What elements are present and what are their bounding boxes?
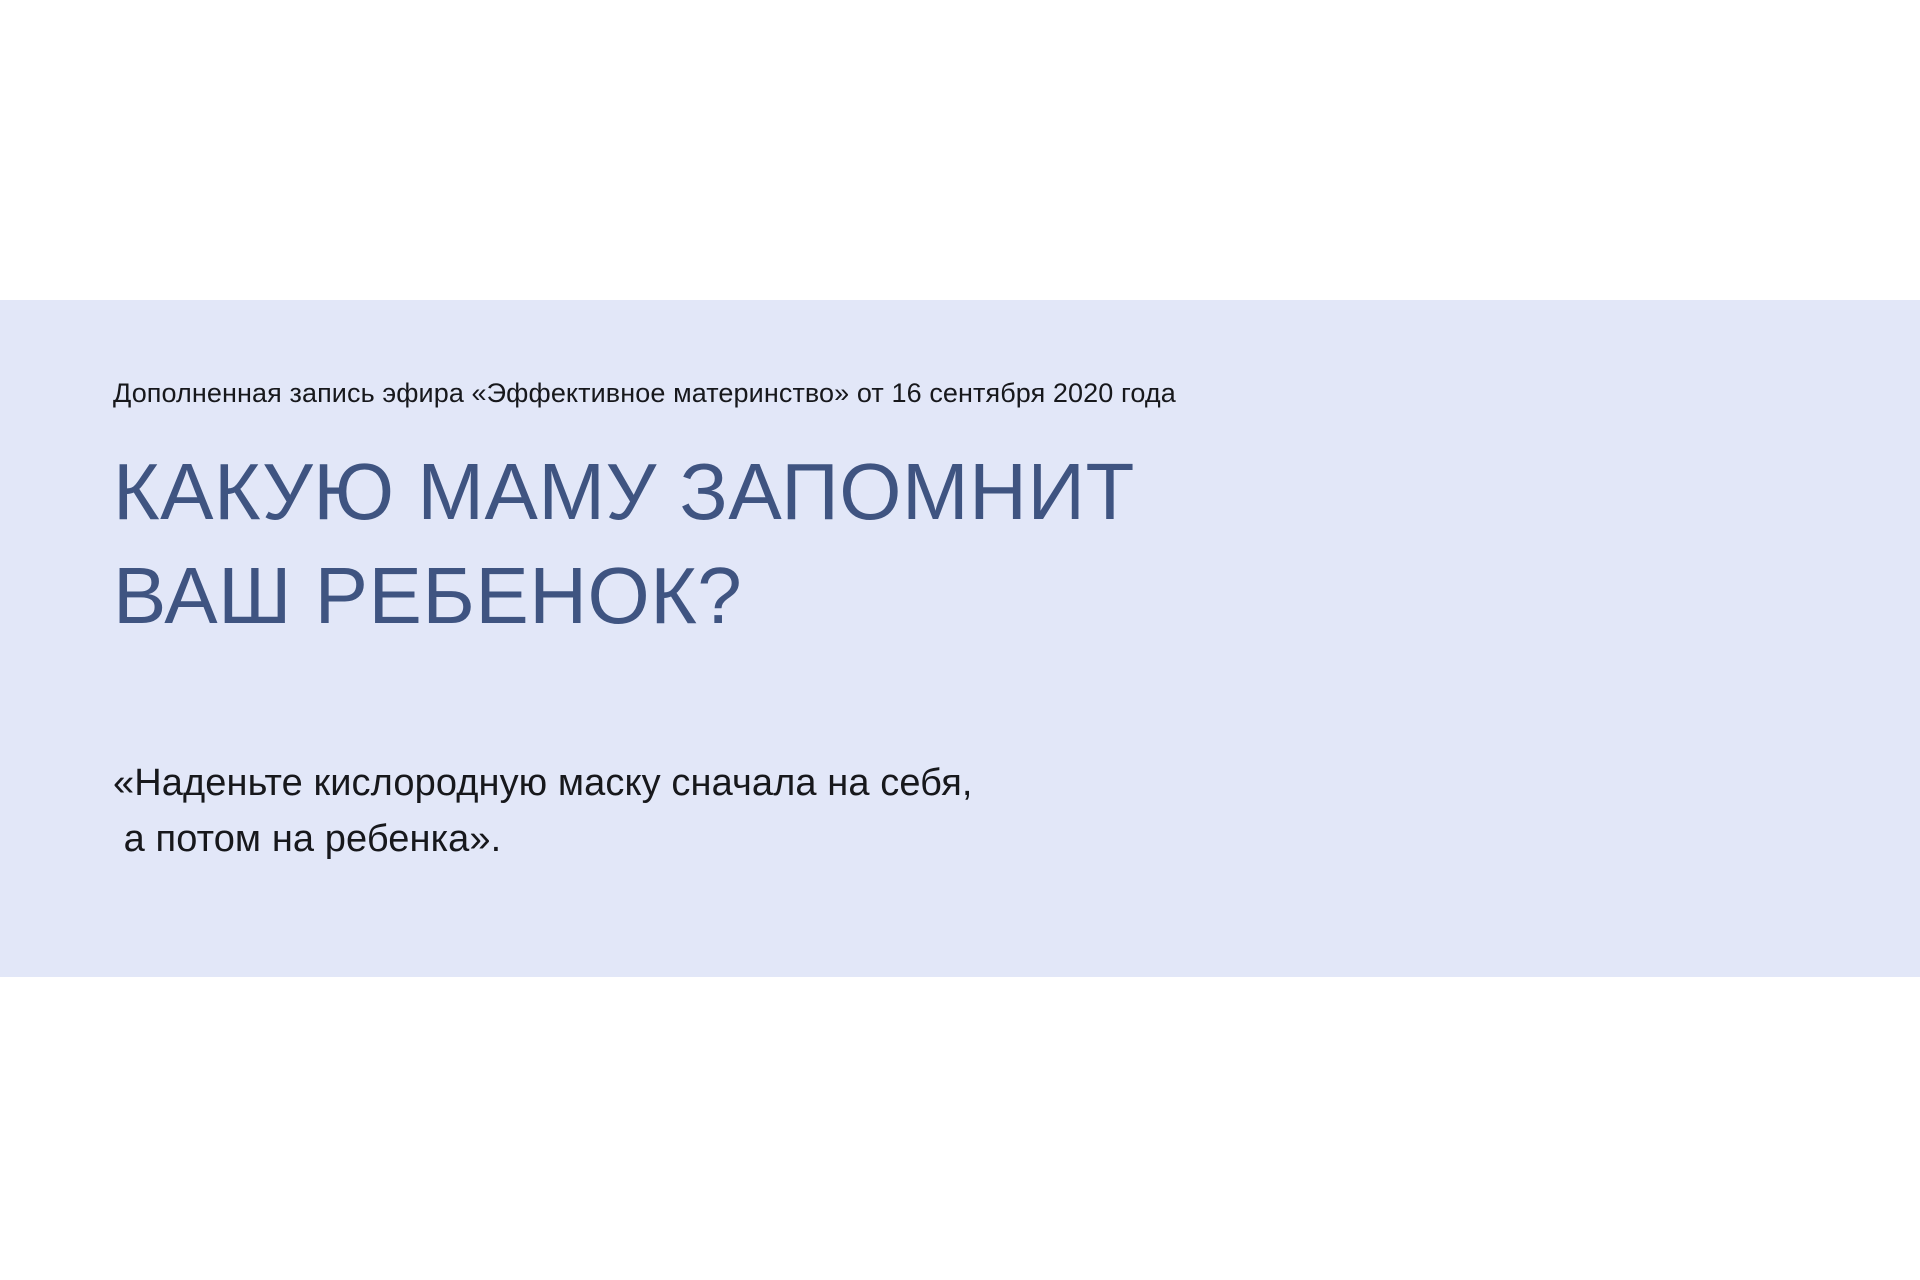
promo-quote-line-2: а потом на ребенка». (113, 811, 973, 867)
promo-quote: «Наденьте кислородную маску сначала на с… (113, 755, 973, 867)
promo-headline-line-2: ВАШ РЕБЕНОК? (113, 544, 1135, 648)
promo-headline: КАКУЮ МАМУ ЗАПОМНИТ ВАШ РЕБЕНОК? (113, 440, 1135, 648)
promo-content-wrapper: Дополненная запись эфира «Эффективное ма… (113, 300, 1860, 977)
promo-banner-panel: Дополненная запись эфира «Эффективное ма… (0, 300, 1920, 977)
promo-eyebrow-text: Дополненная запись эфира «Эффективное ма… (113, 376, 1176, 410)
promo-headline-line-1: КАКУЮ МАМУ ЗАПОМНИТ (113, 440, 1135, 544)
promo-quote-line-1: «Наденьте кислородную маску сначала на с… (113, 755, 973, 811)
